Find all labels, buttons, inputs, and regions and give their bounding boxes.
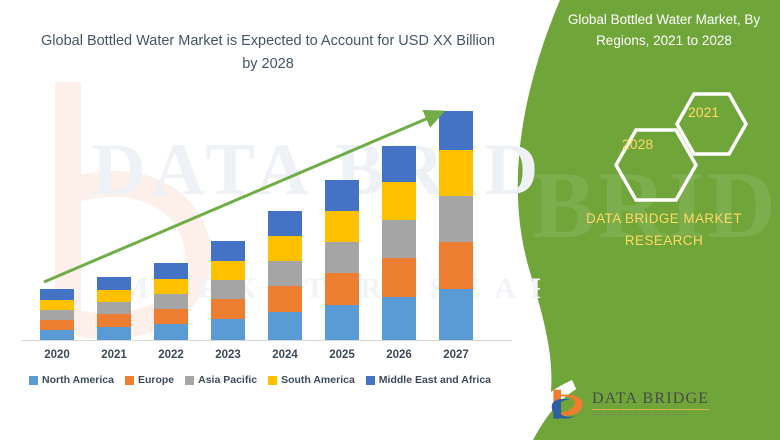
bar-segment (439, 289, 473, 340)
x-axis-label: 2023 (198, 349, 258, 361)
bar-segment (382, 182, 416, 220)
hexagon-2021 (677, 94, 746, 154)
x-axis-label: 2025 (312, 349, 372, 361)
bar-segment (382, 258, 416, 297)
bar-segment (154, 294, 188, 309)
hexagon-2028-label: 2028 (622, 136, 653, 152)
hexagon-2021-label: 2021 (688, 104, 719, 120)
bar-segment (97, 314, 131, 327)
x-axis-label: 2024 (255, 349, 315, 361)
bar-segment (268, 286, 302, 312)
bar-segment (154, 263, 188, 279)
legend-item[interactable]: Middle East and Africa (366, 374, 491, 386)
legend-label: North America (42, 374, 114, 386)
bar-segment (268, 312, 302, 340)
chart-legend: North AmericaEuropeAsia PacificSouth Ame… (0, 374, 520, 386)
legend-swatch-icon (366, 376, 375, 385)
legend-item[interactable]: Asia Pacific (185, 374, 257, 386)
x-axis-label: 2022 (141, 349, 201, 361)
panel-content: BRIDGE Global Bottled Water Market, By R… (540, 0, 780, 440)
x-axis-label: 2026 (369, 349, 429, 361)
bar-segment (211, 299, 245, 319)
bar-segment (211, 241, 245, 261)
bar-stack (154, 263, 188, 340)
bar-segment (382, 220, 416, 258)
x-axis-label: 2027 (426, 349, 486, 361)
bar-segment (40, 300, 74, 310)
legend-label: Middle East and Africa (379, 374, 491, 386)
data-bridge-logo-icon (548, 388, 586, 422)
bar-segment (439, 242, 473, 289)
bar-stack (268, 211, 302, 340)
legend-label: South America (281, 374, 355, 386)
bar-segment (439, 150, 473, 196)
bar-segment (211, 319, 245, 340)
bar-segment (439, 111, 473, 150)
bar-segment (211, 280, 245, 299)
bar-segment (40, 310, 74, 320)
bar-stack (325, 180, 359, 340)
bar-segment (382, 297, 416, 340)
bar-stack (382, 146, 416, 340)
legend-item[interactable]: Europe (125, 374, 174, 386)
bar-segment (268, 236, 302, 261)
legend-item[interactable]: South America (268, 374, 355, 386)
legend-swatch-icon (185, 376, 194, 385)
footer-logo-text: DATA BRIDGE MARKET RESEARCH (592, 391, 709, 419)
infographic-slide: DATA BRIDGE MARKET RESEARCH Global Bottl… (0, 0, 780, 440)
bar-segment (211, 261, 245, 280)
legend-label: Asia Pacific (198, 374, 257, 386)
bar-segment (40, 289, 74, 300)
footer-logo: DATA BRIDGE MARKET RESEARCH (548, 388, 709, 422)
bar-segment (439, 196, 473, 242)
bar-segment (154, 309, 188, 324)
footer-logo-subtitle: MARKET RESEARCH (592, 413, 709, 419)
bar-segment (325, 305, 359, 340)
bar-segment (97, 277, 131, 290)
axis-baseline (22, 340, 512, 341)
bar-segment (325, 242, 359, 273)
bar-segment (40, 320, 74, 330)
bar-stack (97, 277, 131, 340)
x-axis-labels: 20202021202220232024202520262027 (0, 349, 540, 369)
legend-label: Europe (138, 374, 174, 386)
bar-segment (97, 327, 131, 340)
legend-item[interactable]: North America (29, 374, 114, 386)
x-axis-label: 2020 (27, 349, 87, 361)
bar-segment (97, 290, 131, 302)
legend-swatch-icon (125, 376, 134, 385)
bar-segment (40, 330, 74, 340)
footer-logo-rule (592, 409, 709, 410)
bar-stack (439, 111, 473, 340)
bar-segment (382, 146, 416, 182)
x-axis-label: 2021 (84, 349, 144, 361)
bar-stack (40, 289, 74, 340)
bar-segment (325, 211, 359, 242)
panel-title: Global Bottled Water Market, By Regions,… (550, 10, 778, 52)
brand-line: DATA BRIDGE MARKET RESEARCH (552, 208, 776, 251)
bar-segment (154, 324, 188, 340)
bar-segment (154, 279, 188, 294)
bar-segment (97, 302, 131, 314)
bar-segment (325, 273, 359, 305)
bar-segment (268, 261, 302, 286)
legend-swatch-icon (268, 376, 277, 385)
bar-stack (211, 241, 245, 340)
footer-logo-name: DATA BRIDGE (592, 391, 709, 407)
legend-swatch-icon (29, 376, 38, 385)
bar-segment (325, 180, 359, 211)
bar-segment (268, 211, 302, 236)
